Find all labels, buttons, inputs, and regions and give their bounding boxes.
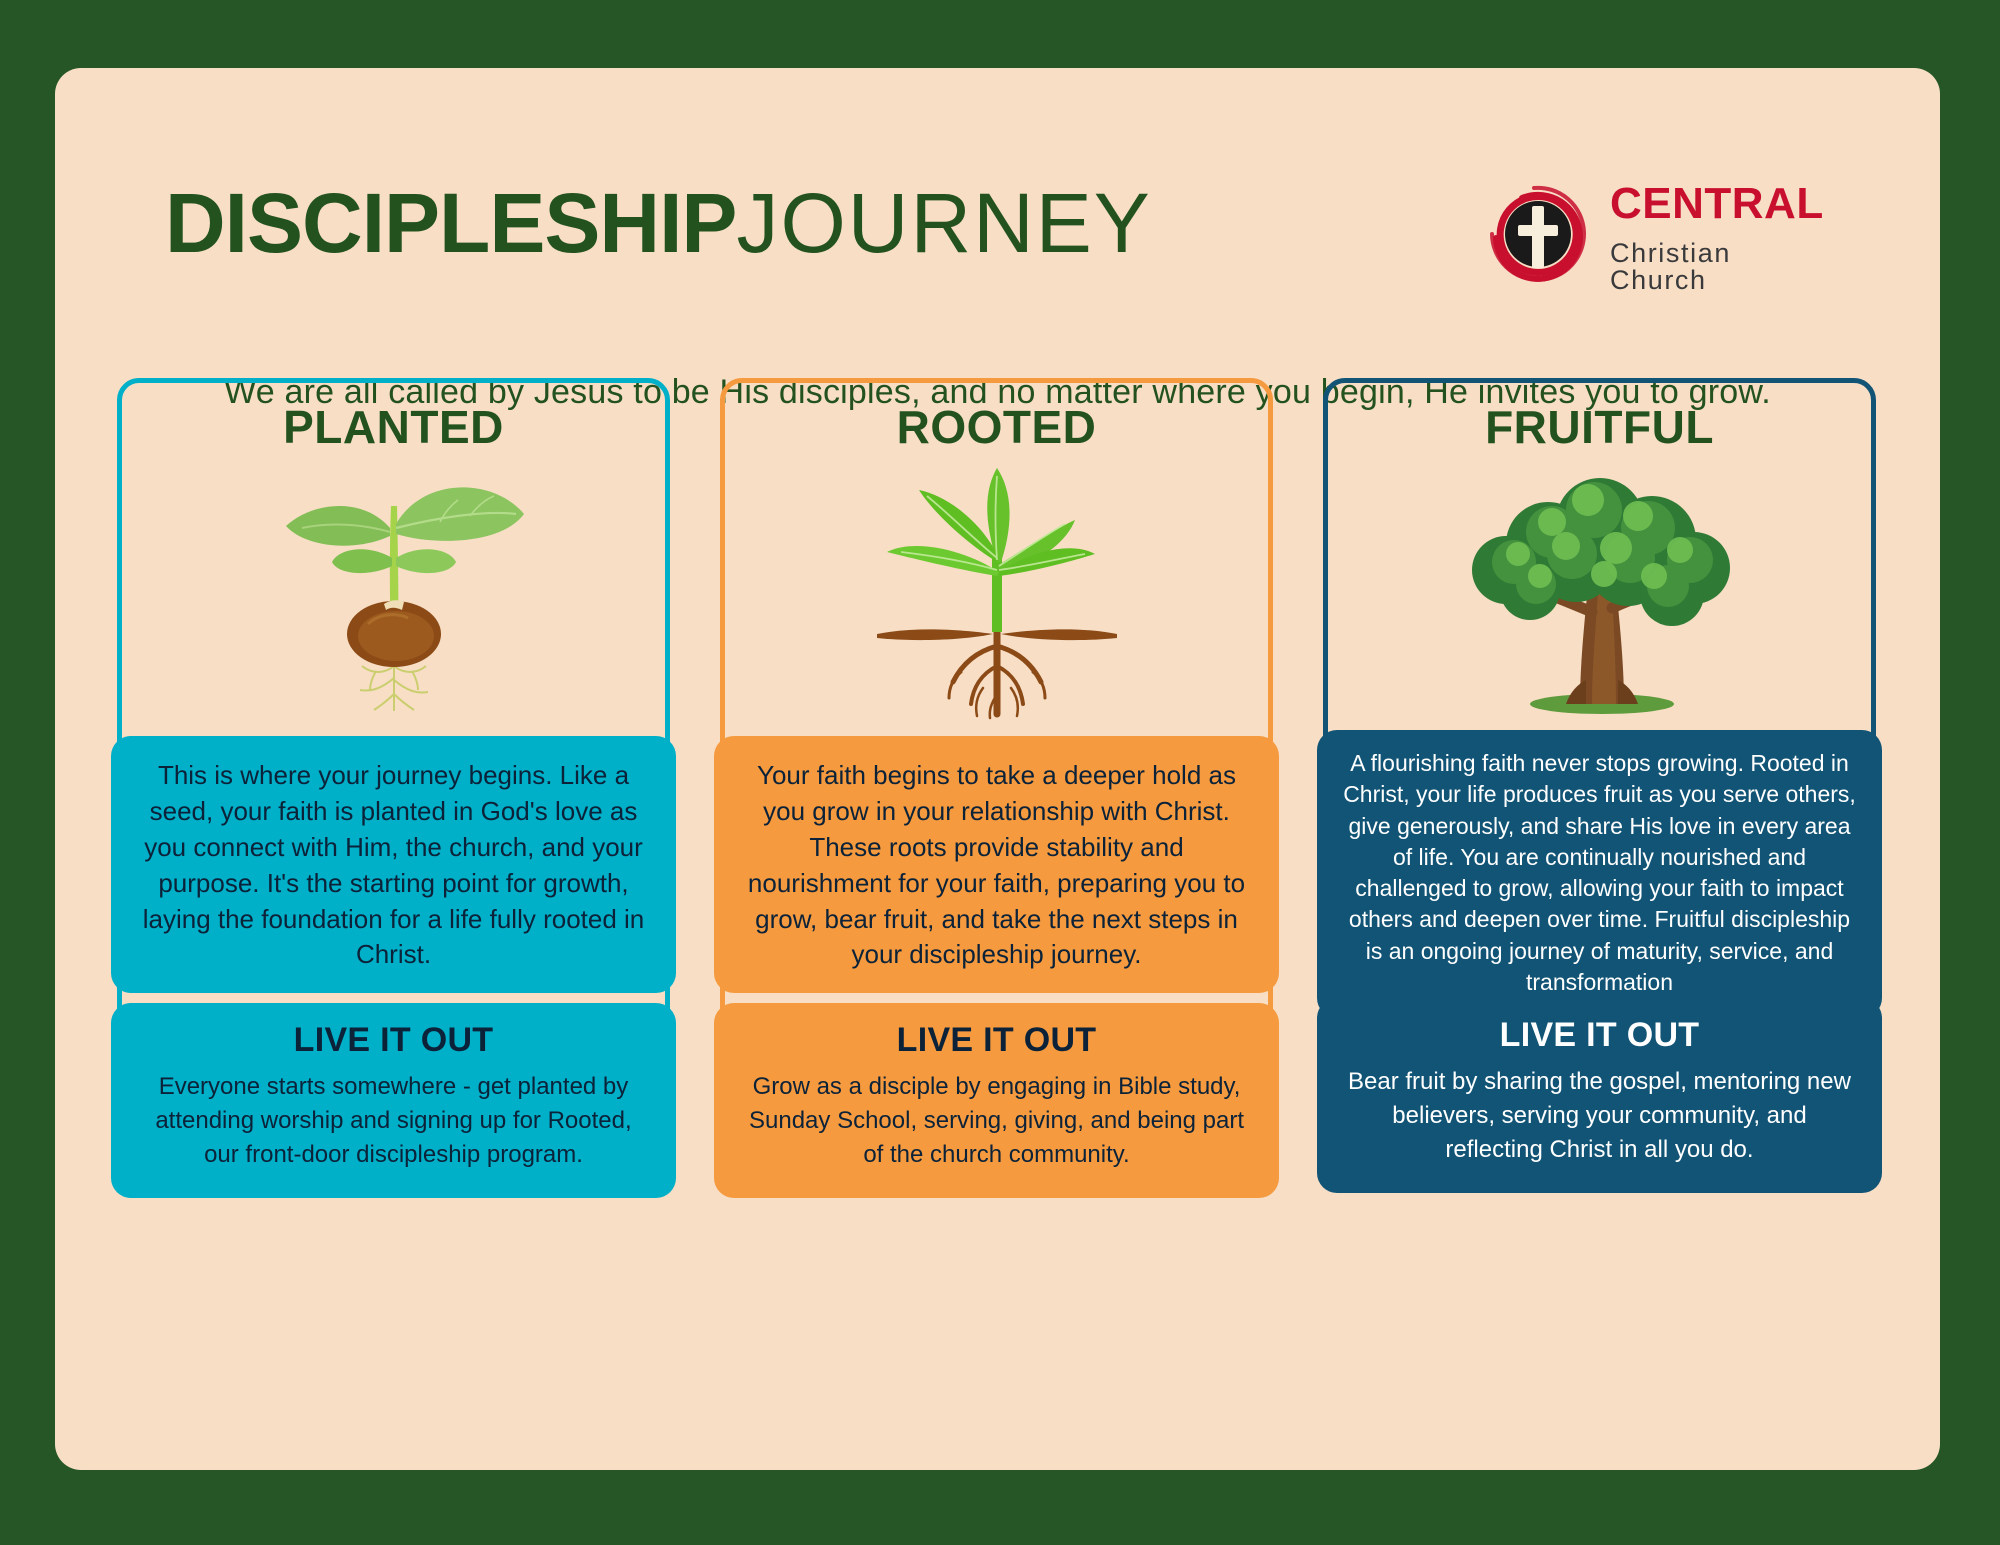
card-heading: ROOTED bbox=[720, 400, 1273, 454]
sprouting-seed-illustration bbox=[117, 466, 670, 726]
card-description: This is where your journey begins. Like … bbox=[111, 736, 676, 993]
mature-tree-illustration bbox=[1323, 466, 1876, 726]
live-it-out-block: LIVE IT OUT Bear fruit by sharing the go… bbox=[1317, 998, 1882, 1193]
live-it-out-title: LIVE IT OUT bbox=[1345, 1016, 1854, 1055]
cross-in-circle-icon bbox=[1482, 178, 1594, 290]
live-it-out-title: LIVE IT OUT bbox=[139, 1021, 648, 1060]
logo: CENTRAL Christian Church bbox=[1482, 178, 1812, 293]
live-it-out-title: LIVE IT OUT bbox=[742, 1021, 1251, 1060]
title-light: JOURNEY bbox=[736, 176, 1151, 270]
live-it-out-block: LIVE IT OUT Grow as a disciple by engagi… bbox=[714, 1003, 1279, 1198]
poster-panel: DISCIPLESHIPJOURNEY CENTRAL Christian Ch… bbox=[55, 68, 1940, 1470]
logo-text: CENTRAL Christian Church bbox=[1610, 182, 1824, 294]
page-title: DISCIPLESHIPJOURNEY bbox=[165, 181, 1152, 265]
card-description: Your faith begins to take a deeper hold … bbox=[714, 736, 1279, 993]
card-heading: PLANTED bbox=[117, 400, 670, 454]
rooted-plant-illustration bbox=[720, 466, 1273, 726]
logo-subtitle: Christian Church bbox=[1610, 240, 1824, 294]
live-it-out-body: Everyone starts somewhere - get planted … bbox=[139, 1070, 648, 1172]
logo-name: CENTRAL bbox=[1610, 182, 1824, 226]
title-strong: DISCIPLESHIP bbox=[165, 176, 736, 270]
card-heading: FRUITFUL bbox=[1323, 400, 1876, 454]
live-it-out-body: Bear fruit by sharing the gospel, mentor… bbox=[1345, 1065, 1854, 1167]
live-it-out-body: Grow as a disciple by engaging in Bible … bbox=[742, 1070, 1251, 1172]
live-it-out-block: LIVE IT OUT Everyone starts somewhere - … bbox=[111, 1003, 676, 1198]
header: DISCIPLESHIPJOURNEY CENTRAL Christian Ch… bbox=[55, 68, 1940, 368]
card-description: A flourishing faith never stops growing.… bbox=[1317, 730, 1882, 1018]
